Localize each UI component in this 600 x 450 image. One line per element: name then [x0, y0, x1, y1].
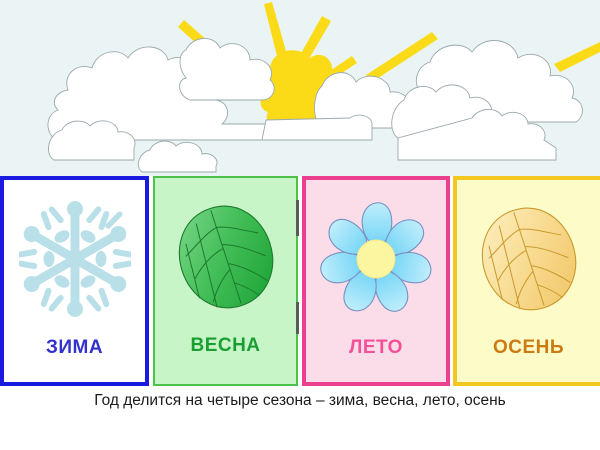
snowflake-icon — [19, 200, 131, 318]
divider-tick-upper — [296, 200, 299, 236]
cloud-right — [392, 41, 583, 160]
seasons-infographic: ЗИМА — [0, 0, 600, 450]
season-card-spring[interactable]: ВЕСНА — [153, 176, 298, 386]
season-card-row: ЗИМА — [0, 176, 600, 386]
autumn-art — [457, 180, 600, 338]
season-label-winter: ЗИМА — [4, 338, 145, 357]
flower-icon — [317, 200, 435, 318]
season-label-spring: ВЕСНА — [155, 336, 296, 355]
season-card-winter[interactable]: ЗИМА — [0, 176, 149, 386]
season-label-summer: ЛЕТО — [306, 338, 446, 357]
divider-tick-lower — [296, 302, 299, 334]
summer-art — [306, 180, 446, 338]
season-label-autumn: ОСЕНЬ — [457, 338, 600, 357]
season-card-summer[interactable]: ЛЕТО — [302, 176, 450, 386]
sky-scene — [0, 0, 600, 176]
spring-art — [155, 178, 296, 336]
winter-art — [4, 180, 145, 338]
caption-text: Год делится на четыре сезона – зима, вес… — [0, 392, 600, 410]
green-leaf-icon — [172, 198, 280, 316]
season-card-autumn[interactable]: ОСЕНЬ — [453, 176, 600, 386]
autumn-leaf-icon — [475, 200, 583, 318]
